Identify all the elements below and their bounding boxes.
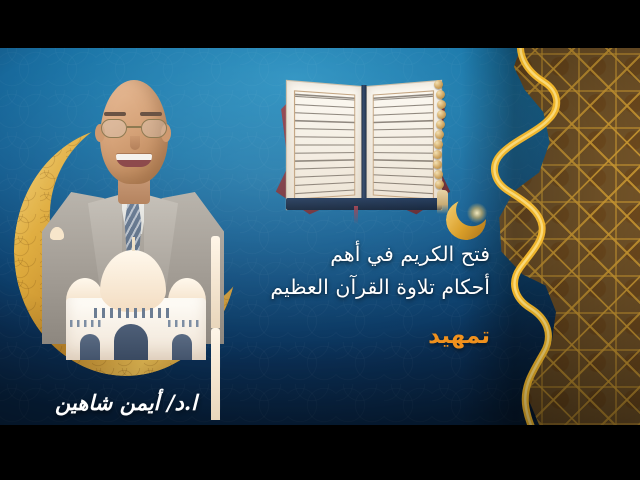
beads-tassel	[437, 190, 448, 214]
nose	[130, 136, 140, 150]
speaker-name: ا.د/ أيمن شاهين	[26, 390, 226, 415]
smiling-mouth	[116, 154, 152, 167]
letterbox-top	[0, 0, 640, 48]
video-frame: فتح الكريم في أهم أحكام تلاوة القرآن الع…	[0, 48, 640, 425]
mosque-arcade-left	[70, 320, 104, 327]
letterbox-bottom	[0, 425, 640, 480]
mosque-gate-left	[80, 334, 100, 360]
book-spine	[362, 85, 367, 207]
quran-page-left	[286, 80, 362, 210]
speaker-emblem	[6, 48, 242, 425]
title-line-1: فتح الكريم في أهم	[190, 238, 490, 271]
glasses-bridge	[127, 126, 141, 128]
prayer-beads-icon	[420, 80, 450, 208]
title-block: فتح الكريم في أهم أحكام تلاوة القرآن الع…	[190, 238, 490, 350]
mosque-arcade	[94, 308, 172, 318]
book-cover-edge	[286, 198, 442, 210]
mosque-gate-right	[172, 334, 192, 360]
title-card: فتح الكريم في أهم أحكام تلاوة القرآن الع…	[0, 0, 640, 480]
bookmark-ribbon	[354, 206, 358, 224]
quran-illustration	[268, 56, 458, 236]
open-quran	[290, 86, 438, 208]
lens-left	[101, 119, 127, 138]
eyebrow-right	[140, 112, 162, 116]
main-dome	[100, 250, 166, 312]
mosque-main-gate	[114, 324, 148, 360]
eyebrow-left	[104, 112, 126, 116]
subject-label: تمهيد	[190, 322, 490, 350]
lens-right	[141, 119, 167, 138]
title-line-2: أحكام تلاوة القرآن العظيم	[190, 271, 490, 304]
quran-text-lines	[294, 90, 355, 199]
